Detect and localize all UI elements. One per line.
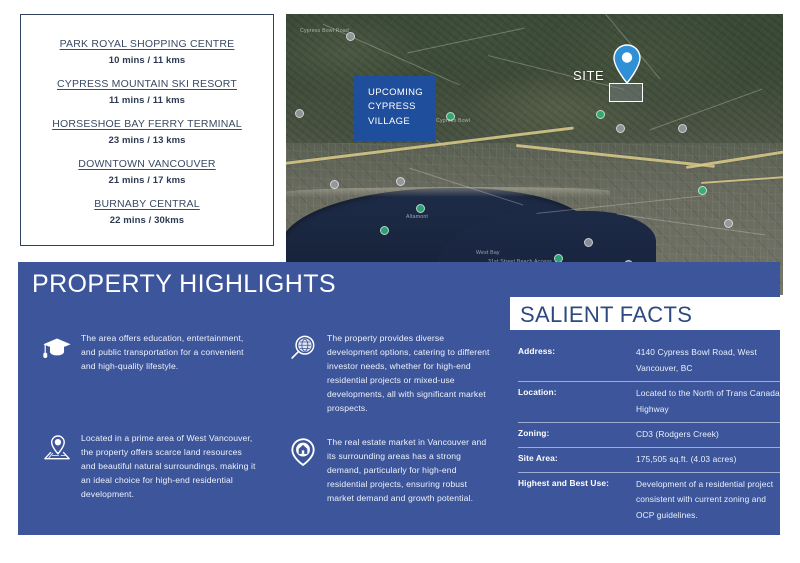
highlight-card-development-options: The property provides diverse developmen… xyxy=(288,332,493,416)
map-place-label: West Bay xyxy=(476,250,500,256)
map-marker-icon[interactable] xyxy=(678,124,687,133)
table-row: Address: 4140 Cypress Bowl Road, West Va… xyxy=(518,341,780,381)
fact-key: Address: xyxy=(518,345,636,376)
distance-item: HORSESHOE BAY FERRY TERMINAL 23 mins / 1… xyxy=(29,114,265,146)
distance-value: 23 mins / 13 kms xyxy=(29,135,265,146)
distance-destination: PARK ROYAL SHOPPING CENTRE xyxy=(60,38,235,50)
upcoming-cypress-village-label: UPCOMING CYPRESS VILLAGE xyxy=(354,76,436,141)
distance-destination: CYPRESS MOUNTAIN SKI RESORT xyxy=(57,78,237,90)
graduation-cap-icon xyxy=(42,332,72,374)
map-marker-icon[interactable] xyxy=(380,226,389,235)
fact-key: Site Area: xyxy=(518,452,636,467)
highlight-card-prime-location: Located in a prime area of West Vancouve… xyxy=(42,432,257,502)
table-row: Highest and Best Use: Development of a r… xyxy=(518,472,780,529)
table-row: Location: Located to the North of Trans … xyxy=(518,381,780,422)
map-place-label: Cypress Bowl Road xyxy=(300,28,349,34)
table-row: Site Area: 175,505 sq.ft. (4.03 acres) xyxy=(518,447,780,472)
map-marker-icon[interactable] xyxy=(295,109,304,118)
map-pin-icon[interactable] xyxy=(613,44,641,84)
distance-item: BURNABY CENTRAL 22 mins / 30kms xyxy=(29,194,265,226)
fact-value: 4140 Cypress Bowl Road, West Vancouver, … xyxy=(636,345,780,376)
highlight-card-market-demand: The real estate market in Vancouver and … xyxy=(288,436,493,506)
highlight-text: The property provides diverse developmen… xyxy=(327,332,493,416)
distance-value: 11 mins / 11 kms xyxy=(29,95,265,106)
home-pin-icon xyxy=(288,436,318,506)
distance-item: CYPRESS MOUNTAIN SKI RESORT 11 mins / 11… xyxy=(29,74,265,106)
fact-key: Location: xyxy=(518,386,636,417)
map-location-pin-icon xyxy=(42,432,72,502)
village-label-line-1: UPCOMING xyxy=(368,86,424,100)
map-canvas: Cypress Bowl Road Cypress Bowl West Bay … xyxy=(286,14,783,295)
village-label-line-2: CYPRESS VILLAGE xyxy=(368,100,424,129)
brochure-page: PARK ROYAL SHOPPING CENTRE 10 mins / 11 … xyxy=(0,0,800,563)
highlight-text: Located in a prime area of West Vancouve… xyxy=(81,432,257,502)
site-marker-group[interactable]: SITE xyxy=(573,42,683,112)
map-marker-icon[interactable] xyxy=(616,124,625,133)
distance-destination: DOWNTOWN VANCOUVER xyxy=(78,158,215,170)
distance-value: 22 mins / 30kms xyxy=(29,215,265,226)
map-marker-icon[interactable] xyxy=(416,204,425,213)
salient-facts-title: SALIENT FACTS xyxy=(520,302,692,328)
distance-value: 10 mins / 11 kms xyxy=(29,55,265,66)
distance-item: DOWNTOWN VANCOUVER 21 mins / 17 kms xyxy=(29,154,265,186)
distance-destination: HORSESHOE BAY FERRY TERMINAL xyxy=(52,118,242,130)
fact-key: Zoning: xyxy=(518,427,636,442)
map-place-label: Cypress Bowl xyxy=(436,118,470,124)
site-boundary-outline xyxy=(609,83,643,102)
property-highlights-title: PROPERTY HIGHLIGHTS xyxy=(32,270,336,299)
map-place-label: Altamont xyxy=(406,214,428,220)
highlight-text: The area offers education, entertainment… xyxy=(81,332,257,374)
globe-magnifier-icon xyxy=(288,332,318,416)
site-label: SITE xyxy=(573,68,604,83)
fact-value: CD3 (Rodgers Creek) xyxy=(636,427,780,442)
highlight-text: The real estate market in Vancouver and … xyxy=(327,436,493,506)
map-marker-icon[interactable] xyxy=(698,186,707,195)
highlight-card-education: The area offers education, entertainment… xyxy=(42,332,257,374)
distance-item: PARK ROYAL SHOPPING CENTRE 10 mins / 11 … xyxy=(29,34,265,66)
table-row: Zoning: CD3 (Rodgers Creek) xyxy=(518,422,780,447)
distance-value: 21 mins / 17 kms xyxy=(29,175,265,186)
salient-facts-table: Address: 4140 Cypress Bowl Road, West Va… xyxy=(518,341,780,528)
fact-value: 175,505 sq.ft. (4.03 acres) xyxy=(636,452,780,467)
distance-destination: BURNABY CENTRAL xyxy=(94,198,200,210)
distances-panel: PARK ROYAL SHOPPING CENTRE 10 mins / 11 … xyxy=(20,14,274,246)
map-marker-icon[interactable] xyxy=(584,238,593,247)
map-marker-icon[interactable] xyxy=(396,177,405,186)
fact-key: Highest and Best Use: xyxy=(518,477,636,524)
fact-value: Located to the North of Trans Canada Hig… xyxy=(636,386,780,417)
map-marker-icon[interactable] xyxy=(330,180,339,189)
aerial-map[interactable]: Cypress Bowl Road Cypress Bowl West Bay … xyxy=(286,14,783,295)
map-marker-icon[interactable] xyxy=(724,219,733,228)
fact-value: Development of a residential project con… xyxy=(636,477,780,524)
